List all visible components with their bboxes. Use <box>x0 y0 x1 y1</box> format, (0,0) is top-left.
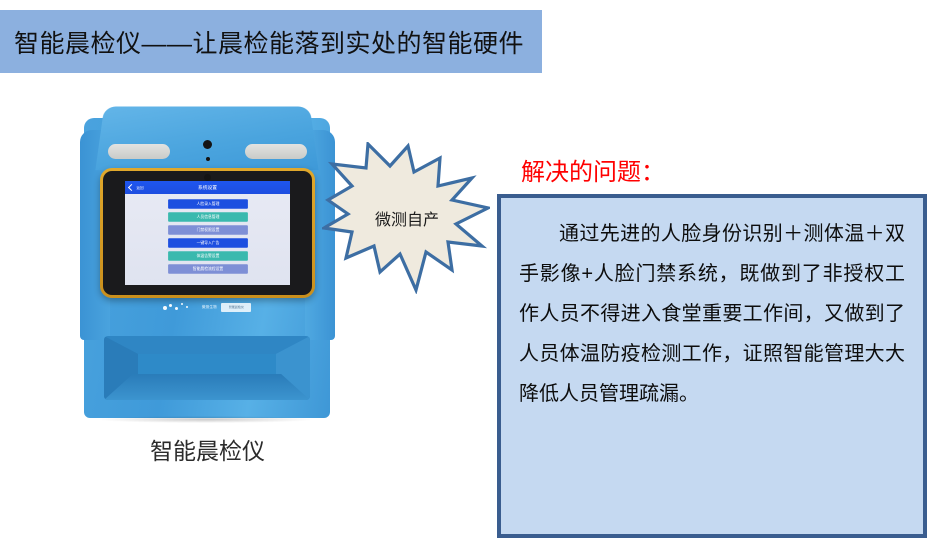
screen-menu-list: 人脸录入管理 人员信息管理 门禁权限设置 一键导入广告 体温告警设置 智能晨检流… <box>125 194 290 274</box>
screen-menu-item-3[interactable]: 门禁权限设置 <box>168 225 248 235</box>
device-illustration: 返回 系统设置 人脸录入管理 人员信息管理 门禁权限设置 一键导入广告 体温告警… <box>70 100 345 430</box>
screen-camera-icon <box>204 174 211 181</box>
device-cavity-area <box>92 328 322 408</box>
camera-icon <box>203 140 212 149</box>
callout-starburst: 微测自产 <box>322 142 490 294</box>
slide-title-banner: 智能晨检仪——让晨检能落到实处的智能硬件 <box>0 10 542 73</box>
brand-name: 微测生物 <box>201 304 216 309</box>
starburst-shape <box>322 142 490 294</box>
device-brand-band: 微测生物 智能晨检仪 <box>148 300 266 314</box>
hand-scanner-cavity <box>104 336 310 400</box>
brand-logo-icon <box>163 303 197 312</box>
page-title: 智能晨检仪——让晨检能落到实处的智能硬件 <box>0 24 524 60</box>
screen-menu-item-1[interactable]: 人脸录入管理 <box>168 199 248 209</box>
screen-header-bar: 返回 系统设置 <box>125 181 290 194</box>
proximity-sensor-icon <box>206 157 210 161</box>
screen-menu-item-6[interactable]: 智能晨检流程设置 <box>168 264 248 274</box>
solution-heading: 解决的问题： <box>521 152 665 187</box>
solution-body-text: 通过先进的人脸身份识别＋测体温＋双手影像+人脸门禁系统，既做到了非授权工作人员不… <box>501 198 923 414</box>
screen-title: 系统设置 <box>129 184 286 191</box>
screen-menu-item-5[interactable]: 体温告警设置 <box>168 251 248 261</box>
device-caption: 智能晨检仪 <box>70 432 345 466</box>
screen-menu-item-2[interactable]: 人员信息管理 <box>168 212 248 222</box>
device-screen[interactable]: 返回 系统设置 人脸录入管理 人员信息管理 门禁权限设置 一键导入广告 体温告警… <box>125 181 290 285</box>
screen-bezel: 返回 系统设置 人脸录入管理 人员信息管理 门禁权限设置 一键导入广告 体温告警… <box>100 168 315 298</box>
device-figure: 返回 系统设置 人脸录入管理 人员信息管理 门禁权限设置 一键导入广告 体温告警… <box>70 100 345 470</box>
cavity-floor <box>104 374 310 400</box>
device-nameplate: 智能晨检仪 <box>221 303 251 312</box>
cavity-back-wall <box>138 354 276 374</box>
screen-menu-item-4[interactable]: 一键导入广告 <box>168 238 248 248</box>
solution-box: 通过先进的人脸身份识别＋测体温＋双手影像+人脸门禁系统，既做到了非授权工作人员不… <box>497 194 927 538</box>
sensor-pad-right <box>245 144 307 159</box>
screen-frame: 返回 系统设置 人脸录入管理 人员信息管理 门禁权限设置 一键导入广告 体温告警… <box>103 171 312 295</box>
device-shadow <box>100 416 312 423</box>
sensor-pad-left <box>108 144 170 159</box>
